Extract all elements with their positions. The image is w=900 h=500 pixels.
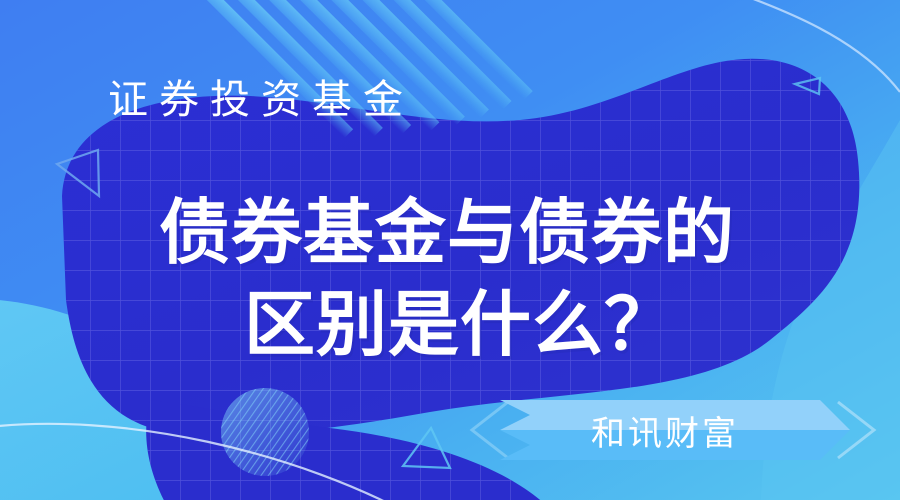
- promo-poster: 证券投资基金 债券基金与债券的 区别是什么？ 和讯财富: [0, 0, 900, 500]
- headline-line-1: 债券基金与债券的: [0, 188, 900, 280]
- striped-circle: [221, 388, 309, 476]
- poster-headline: 债券基金与债券的 区别是什么？: [0, 188, 900, 372]
- brand-label: 和讯财富: [490, 400, 820, 460]
- poster-subtitle: 证券投资基金: [108, 76, 414, 124]
- headline-line-2: 区别是什么？: [0, 280, 900, 372]
